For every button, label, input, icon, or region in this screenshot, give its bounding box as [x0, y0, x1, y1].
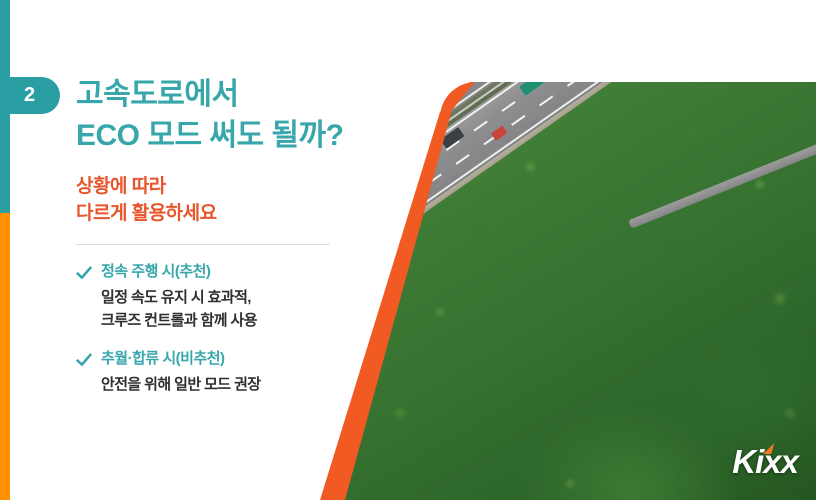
list-item: 정속 주행 시(추천) 일정 속도 유지 시 효과적, 크루즈 컨트롤과 함께 … [76, 263, 376, 332]
bullet-heading-row: 추월·합류 시(비추천) [76, 350, 376, 369]
vehicle [533, 1, 549, 16]
section-divider [76, 244, 330, 245]
step-number-label: 2 [24, 85, 36, 105]
brand-logo: Kixx [732, 445, 798, 478]
list-item-title: 정속 주행 시(추천) [101, 263, 210, 282]
list-item-body: 안전을 위해 일반 모드 권장 [101, 373, 376, 396]
infographic-card: 2 고속도로에서 ECO 모드 써도 될까? 상황에 따라 다르게 활용하세요 … [0, 0, 816, 500]
vehicle [623, 0, 649, 18]
page-title: 고속도로에서 ECO 모드 써도 될까? [76, 74, 476, 157]
vehicle [689, 0, 706, 2]
bullet-list: 정속 주행 시(추천) 일정 속도 유지 시 효과적, 크루즈 컨트롤과 함께 … [76, 263, 376, 414]
check-icon [76, 266, 92, 282]
list-item: 추월·합류 시(비추천) 안전을 위해 일반 모드 권장 [76, 350, 376, 396]
left-accent-rail [0, 0, 10, 500]
page-subtitle: 상황에 따라 다르게 활용하세요 [76, 174, 406, 228]
brand-logo-text: Kixx [732, 443, 798, 480]
vehicle [496, 43, 518, 63]
list-item-body: 일정 속도 유지 시 효과적, 크루즈 컨트롤과 함께 사용 [101, 286, 376, 333]
bullet-heading-row: 정속 주행 시(추천) [76, 263, 376, 282]
check-icon [76, 353, 92, 369]
list-item-title: 추월·합류 시(비추천) [101, 350, 225, 369]
vehicle [588, 53, 604, 68]
vehicle [457, 41, 483, 64]
rail-segment-orange [0, 213, 10, 500]
step-number-badge: 2 [0, 77, 60, 114]
